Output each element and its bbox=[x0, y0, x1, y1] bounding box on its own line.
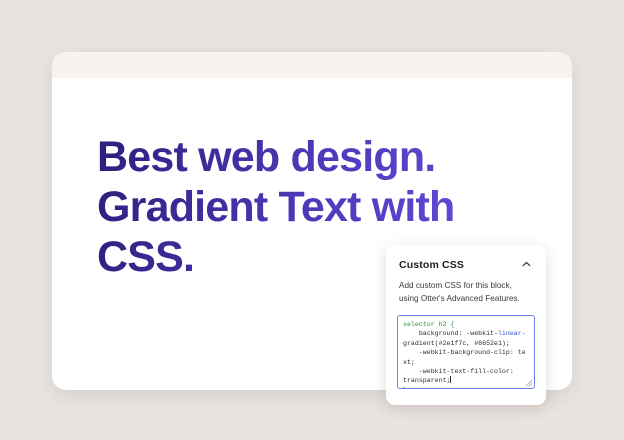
code-token-closing-brace: } bbox=[403, 387, 407, 389]
custom-css-panel-description: Add custom CSS for this block, using Ott… bbox=[386, 271, 546, 305]
css-code-content: selector h2 { background: -webkit-linear… bbox=[398, 316, 534, 389]
custom-css-panel-title: Custom CSS bbox=[399, 259, 464, 271]
custom-css-panel: Custom CSS Add custom CSS for this block… bbox=[386, 245, 546, 405]
code-token-background: background: -webkit- bbox=[419, 330, 498, 337]
custom-css-panel-header[interactable]: Custom CSS bbox=[386, 245, 546, 271]
code-token-linear: linear- bbox=[498, 330, 526, 337]
css-code-textarea[interactable]: selector h2 { background: -webkit-linear… bbox=[397, 315, 535, 389]
text-caret bbox=[450, 376, 451, 383]
card-top-band bbox=[52, 52, 572, 78]
code-token-transparent: transparent; bbox=[403, 377, 450, 384]
code-token-background-clip: -webkit-background-clip: text; bbox=[403, 349, 526, 365]
resize-grip-icon[interactable] bbox=[525, 379, 533, 387]
chevron-up-icon[interactable] bbox=[520, 258, 533, 271]
code-token-gradient: gradient(#2e1f7c, #6652e1); bbox=[403, 340, 510, 347]
code-token-text-fill-color: -webkit-text-fill-color: bbox=[419, 368, 514, 375]
code-token-selector: selector h2 { bbox=[403, 321, 454, 328]
